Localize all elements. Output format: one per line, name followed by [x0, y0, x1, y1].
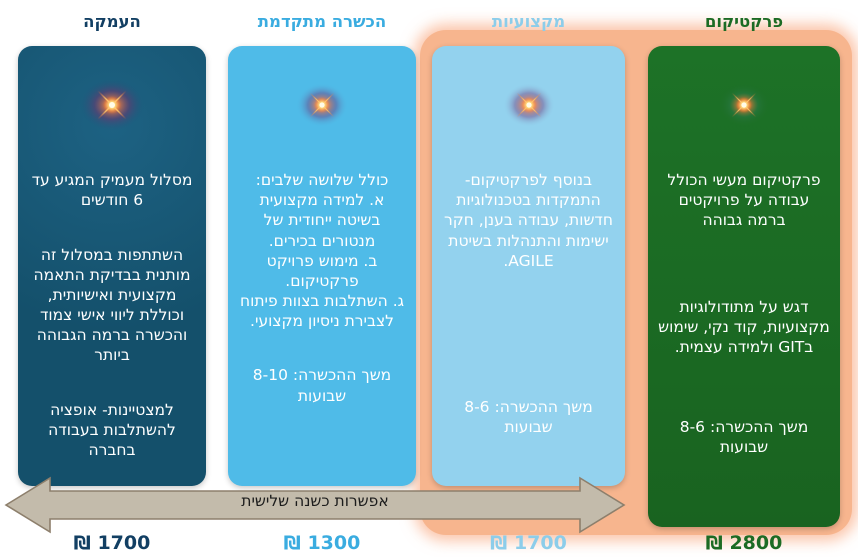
track-header-deepening: העמקה	[18, 12, 206, 31]
training-tracks-board: העמקה הכשרה מתקדמת מקצועיות פרקטיקום	[0, 0, 858, 557]
track-body-professional: בנוסף לפרקטיקום- התמקדות בטכנולוגיות חדש…	[432, 150, 625, 457]
track-text-block: מסלול מעמיק המגיע עד 6 חודשים	[28, 170, 196, 210]
track-header-practicum: פרקטיקום	[648, 12, 840, 31]
track-text-block: כולל שלושה שלבים: א. למידה מקצועית בשיטה…	[238, 170, 406, 331]
track-card-deepening[interactable]: מסלול מעמיק המגיע עד 6 חודשים השתתפות במ…	[18, 46, 206, 486]
track-text-block: בנוסף לפרקטיקום- התמקדות בטכנולוגיות חדש…	[442, 170, 615, 271]
track-text-block: למצטיינות- אופציה להשתלבות בעבודה בחברה	[28, 400, 196, 460]
track-text-block: השתתפות במסלול זה מותנית בבדיקת התאמה מק…	[28, 245, 196, 366]
track-header-professional: מקצועיות	[432, 12, 625, 31]
track-body-deepening: מסלול מעמיק המגיע עד 6 חודשים השתתפות במ…	[18, 150, 206, 480]
track-card-professional[interactable]: בנוסף לפרקטיקום- התמקדות בטכנולוגיות חדש…	[432, 46, 625, 486]
starburst-icon	[487, 72, 571, 138]
track-body-advanced: כולל שלושה שלבים: א. למידה מקצועית בשיטה…	[228, 150, 416, 426]
starburst-icon	[70, 72, 154, 138]
starburst-icon	[280, 72, 364, 138]
price-advanced: 1300 ₪	[228, 532, 416, 554]
track-text-block: משך ההכשרה: 8-6 שבועות	[442, 397, 615, 437]
track-text-block: פרקטיקום מעשי הכולל עבודה על פרויקטים בר…	[658, 170, 830, 230]
track-text-block: דגש על מתודולוגיות מקצועיות, קוד נקי, שי…	[658, 297, 830, 357]
starburst-icon	[702, 72, 786, 138]
track-header-advanced: הכשרה מתקדמת	[228, 12, 416, 31]
price-deepening: 1700 ₪	[18, 532, 206, 554]
track-text-block: משך ההכשרה: 8-10 שבועות	[238, 365, 406, 405]
third-year-double-arrow	[4, 476, 626, 534]
track-body-practicum: פרקטיקום מעשי הכולל עבודה על פרויקטים בר…	[648, 150, 840, 478]
price-professional: 1700 ₪	[432, 532, 625, 554]
price-practicum: 2800 ₪	[648, 532, 840, 554]
track-text-block: משך ההכשרה: 8-6 שבועות	[658, 417, 830, 457]
track-card-practicum[interactable]: פרקטיקום מעשי הכולל עבודה על פרויקטים בר…	[648, 46, 840, 527]
track-card-advanced[interactable]: כולל שלושה שלבים: א. למידה מקצועית בשיטה…	[228, 46, 416, 486]
